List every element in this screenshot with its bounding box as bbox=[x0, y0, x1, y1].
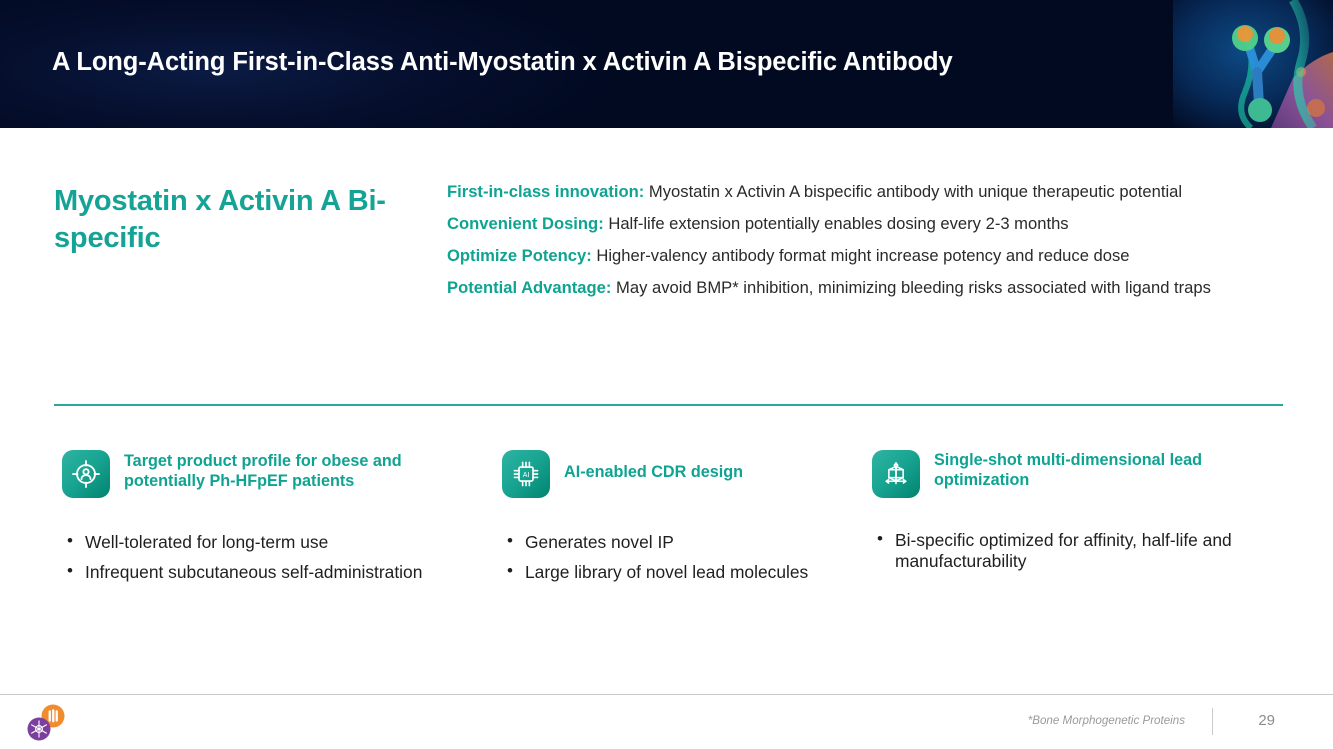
key-point-text: May avoid BMP* inhibition, minimizing bl… bbox=[611, 278, 1211, 297]
three-dimensional-axes-icon bbox=[872, 450, 920, 498]
footer-separator bbox=[1212, 708, 1213, 735]
key-point-text: Higher-valency antibody format might inc… bbox=[592, 246, 1130, 265]
key-point-label: Potential Advantage: bbox=[447, 278, 611, 297]
key-point: Optimize Potency: Higher-valency antibod… bbox=[447, 246, 1287, 266]
capability-header: Target product profile for obese and pot… bbox=[62, 450, 482, 498]
list-item: Bi-specific optimized for affinity, half… bbox=[872, 530, 1283, 572]
ai-chip-icon: AI bbox=[502, 450, 550, 498]
capability-column-target-product-profile: Target product profile for obese and pot… bbox=[62, 450, 482, 592]
section-divider bbox=[54, 404, 1283, 406]
key-point-label: Optimize Potency: bbox=[447, 246, 592, 265]
key-points-list: First-in-class innovation: Myostatin x A… bbox=[447, 182, 1287, 298]
company-logo-icon bbox=[24, 703, 70, 743]
list-item: Well-tolerated for long-term use bbox=[62, 532, 482, 553]
key-point: Potential Advantage: May avoid BMP* inhi… bbox=[447, 278, 1287, 298]
key-point: First-in-class innovation: Myostatin x A… bbox=[447, 182, 1287, 202]
svg-text:AI: AI bbox=[523, 472, 530, 479]
list-item: Generates novel IP bbox=[502, 532, 872, 553]
list-item: Large library of novel lead molecules bbox=[502, 562, 872, 583]
page-number: 29 bbox=[1258, 712, 1275, 729]
key-point: Convenient Dosing: Half-life extension p… bbox=[447, 214, 1287, 234]
footer-divider bbox=[0, 694, 1333, 695]
slide-header: A Long-Acting First-in-Class Anti-Myosta… bbox=[0, 0, 1333, 128]
capability-title: Single-shot multi-dimensional lead optim… bbox=[934, 450, 1283, 491]
key-point-label: First-in-class innovation: bbox=[447, 182, 644, 201]
capability-column-lead-optimization: Single-shot multi-dimensional lead optim… bbox=[872, 450, 1283, 581]
capability-header: AI AI-enabled CDR design bbox=[502, 450, 872, 498]
antibody-molecule-image bbox=[1173, 0, 1333, 128]
capability-column-ai-enabled-cdr-design: AI AI-enabled CDR design Generates novel… bbox=[502, 450, 872, 592]
capability-header: Single-shot multi-dimensional lead optim… bbox=[872, 450, 1283, 498]
capability-bullets: Bi-specific optimized for affinity, half… bbox=[872, 530, 1283, 572]
page-title: A Long-Acting First-in-Class Anti-Myosta… bbox=[52, 48, 953, 77]
capability-bullets: Well-tolerated for long-term use Infrequ… bbox=[62, 532, 482, 583]
key-point-text: Myostatin x Activin A bispecific antibod… bbox=[644, 182, 1182, 201]
footnote-text: *Bone Morphogenetic Proteins bbox=[1028, 714, 1185, 727]
key-point-label: Convenient Dosing: bbox=[447, 214, 604, 233]
capability-title: AI-enabled CDR design bbox=[564, 450, 743, 483]
target-person-icon bbox=[62, 450, 110, 498]
list-item: Infrequent subcutaneous self-administrat… bbox=[62, 562, 482, 583]
key-point-text: Half-life extension potentially enables … bbox=[604, 214, 1069, 233]
section-heading: Myostatin x Activin A Bi-specific bbox=[54, 183, 434, 257]
capability-bullets: Generates novel IP Large library of nove… bbox=[502, 532, 872, 583]
capability-title: Target product profile for obese and pot… bbox=[124, 450, 482, 492]
